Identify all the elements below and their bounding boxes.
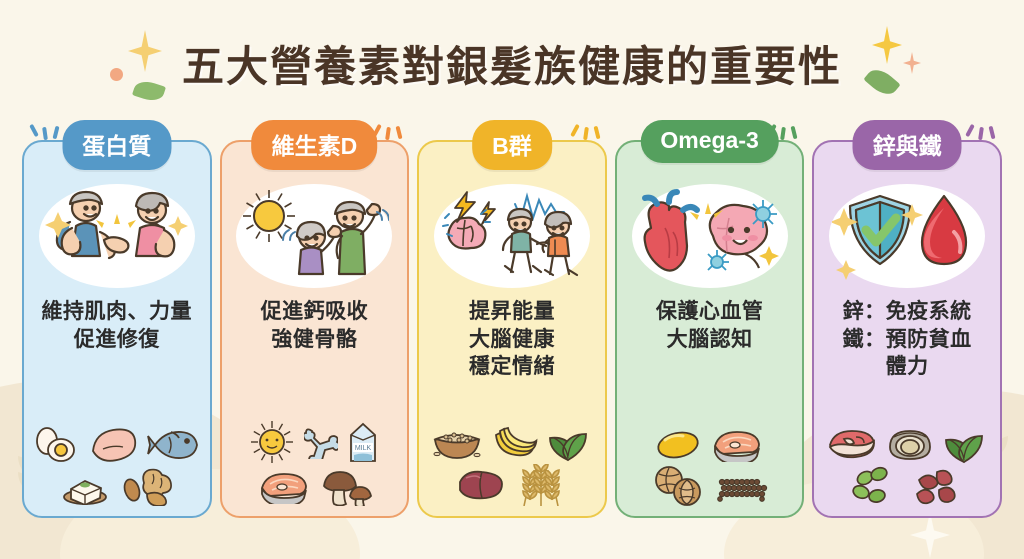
salmon-steak-icon — [709, 428, 765, 462]
salmon-steak-icon — [256, 470, 312, 504]
description-line: 穩定情緒 — [469, 353, 555, 381]
food-row-top — [428, 424, 595, 462]
card-description-zinc-iron: 鋅：免疫系統鐵：預防貧血體力 — [843, 298, 972, 381]
egg-icon — [33, 424, 79, 464]
elderly-couple-stretching-with-sun-icon — [236, 184, 392, 288]
card-description-protein: 維持肌肉、力量促進修復 — [42, 298, 193, 353]
food-sources-b-group — [428, 424, 595, 506]
card-description-vitamin-d: 促進鈣吸收強健骨骼 — [261, 298, 369, 353]
food-row-bottom — [33, 466, 200, 506]
oyster-icon — [886, 427, 934, 463]
description-line: 大腦認知 — [656, 326, 764, 354]
card-description-b-group: 提昇能量大腦健康穩定情緒 — [469, 298, 555, 381]
food-row-bottom — [231, 468, 398, 506]
sun-icon — [248, 418, 296, 466]
nuts-peanut-icon — [119, 466, 175, 506]
elderly-couple-flexing-muscles-icon — [39, 184, 195, 288]
food-row-bottom — [428, 464, 595, 506]
food-sources-zinc-iron — [824, 426, 991, 506]
red-meat-steak-icon — [826, 427, 878, 463]
liver-icon — [456, 468, 506, 502]
sparkle-burst-icon — [26, 116, 66, 150]
food-row-top — [33, 424, 200, 464]
nutrient-card-zinc-iron[interactable]: 鋅與鐵 鋅：免疫系統鐵：預防貧血體力 — [812, 140, 1002, 518]
card-label-vitamin-d: 維生素D — [252, 120, 378, 170]
sparkle-burst-icon — [962, 116, 1002, 150]
svg-text:MILK: MILK — [355, 445, 372, 452]
edamame-icon — [851, 466, 903, 506]
description-line: 促進鈣吸收 — [261, 298, 369, 326]
card-label-b-group: B群 — [472, 120, 552, 170]
shield-check-and-blood-drop-icon — [829, 184, 985, 288]
mushroom-icon — [320, 468, 372, 506]
card-label-zinc-iron: 鋅與鐵 — [853, 120, 962, 170]
description-line: 保護心血管 — [656, 298, 764, 326]
milk-carton-icon: MILK — [346, 419, 380, 465]
description-line: 鐵：預防貧血 — [843, 326, 972, 354]
description-line: 維持肌肉、力量 — [42, 298, 193, 326]
spinach-icon — [942, 426, 988, 464]
description-line: 提昇能量 — [469, 298, 555, 326]
card-label-omega-3: Omega-3 — [640, 120, 778, 163]
card-description-omega-3: 保護心血管大腦認知 — [656, 298, 764, 353]
food-sources-omega-3 — [626, 428, 793, 506]
food-row-top — [626, 428, 793, 462]
heart-and-brain-icon — [632, 184, 788, 288]
card-label-protein: 蛋白質 — [62, 120, 171, 170]
food-row-top: MILK — [231, 418, 398, 466]
tofu-icon — [59, 467, 111, 505]
sparkle-burst-icon — [567, 116, 607, 150]
food-sources-protein — [33, 424, 200, 506]
nutrient-card-protein[interactable]: 蛋白質 維持肌肉、力量促進修復 — [22, 140, 212, 518]
description-line: 大腦健康 — [469, 326, 555, 354]
bone-icon — [304, 425, 338, 459]
kidney-beans-icon — [911, 466, 963, 506]
food-sources-vitamin-d: MILK — [231, 418, 398, 506]
description-line: 強健骨骼 — [261, 326, 369, 354]
food-row-bottom — [824, 466, 991, 506]
food-row-bottom — [626, 464, 793, 506]
description-line: 促進修復 — [42, 326, 193, 354]
fish-icon — [147, 429, 201, 459]
nutrient-card-row: 蛋白質 維持肌肉、力量促進修復 維生素D — [22, 140, 1002, 518]
grain-bowl-icon — [432, 424, 482, 462]
walnut-icon — [652, 464, 706, 506]
description-line: 鋅：免疫系統 — [843, 298, 972, 326]
wheat-icon — [514, 464, 568, 506]
chia-seeds-icon — [714, 468, 768, 502]
description-line: 體力 — [843, 353, 972, 381]
chicken-breast-icon — [87, 425, 139, 463]
spinach-icon — [546, 424, 592, 462]
fish-oil-capsule-icon — [655, 430, 701, 460]
page-title: 五大營養素對銀髮族健康的重要性 — [0, 33, 1024, 94]
nutrient-card-b-group[interactable]: B群 提昇能量大腦健康穩定 — [417, 140, 607, 518]
brain-energy-walking-couple-icon — [434, 184, 590, 288]
nutrient-card-vitamin-d[interactable]: 維生素D 促進鈣吸收強健骨骼 MILK — [220, 140, 410, 518]
nutrient-card-omega-3[interactable]: Omega-3 保護心血管大腦認知 — [615, 140, 805, 518]
food-row-top — [824, 426, 991, 464]
banana-icon — [490, 425, 538, 461]
